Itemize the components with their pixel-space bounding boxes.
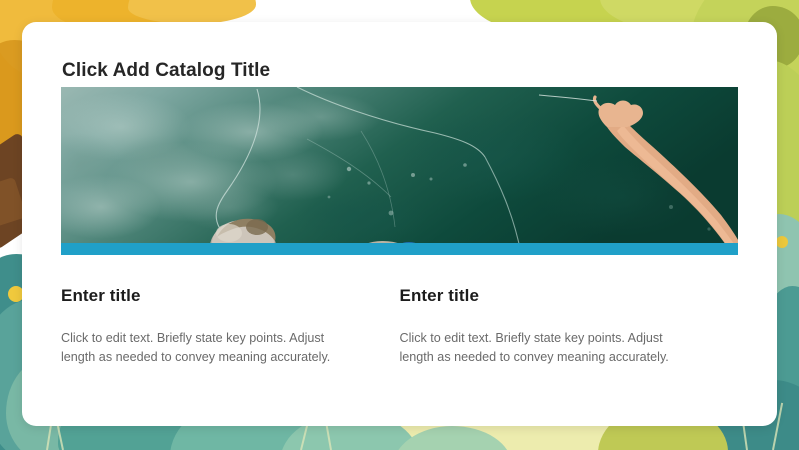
- hero-image[interactable]: [61, 87, 738, 255]
- column-title[interactable]: Enter title: [400, 286, 703, 306]
- column-body-text[interactable]: Click to edit text. Briefly state key po…: [61, 329, 361, 366]
- page-title[interactable]: Click Add Catalog Title: [62, 60, 270, 82]
- hero-image-graphic: [61, 87, 738, 255]
- accent-bar: [61, 243, 738, 255]
- content-columns: Enter title Click to edit text. Briefly …: [61, 286, 738, 366]
- column-title[interactable]: Enter title: [61, 286, 364, 306]
- catalog-card: Click Add Catalog Title: [22, 22, 777, 426]
- content-column-2: Enter title Click to edit text. Briefly …: [400, 286, 739, 366]
- slide-canvas: Click Add Catalog Title: [0, 0, 799, 450]
- column-body-text[interactable]: Click to edit text. Briefly state key po…: [400, 329, 700, 366]
- content-column-1: Enter title Click to edit text. Briefly …: [61, 286, 400, 366]
- yellow-flower-icon: [776, 236, 788, 248]
